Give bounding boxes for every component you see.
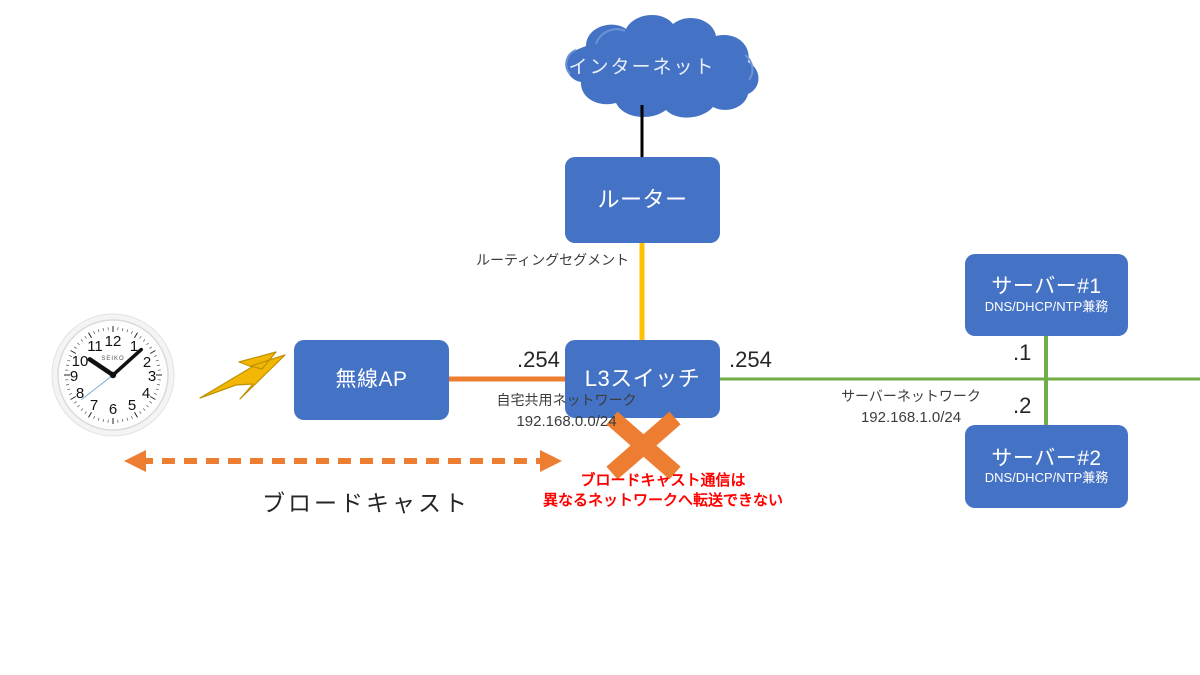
server1-address: .1 — [1013, 340, 1031, 366]
internet-cloud-label: インターネット — [562, 52, 722, 79]
l3-home-interface-address: .254 — [517, 347, 560, 373]
wireless-ap-node[interactable]: 無線AP — [294, 340, 449, 420]
router-node[interactable]: ルーター — [565, 157, 720, 243]
svg-text:11: 11 — [87, 338, 103, 355]
home-network-subnet: 192.168.0.0/24 — [459, 411, 674, 434]
svg-text:6: 6 — [109, 401, 117, 418]
router-label: ルーター — [597, 188, 687, 213]
server2-address: .2 — [1013, 393, 1031, 419]
svg-text:3: 3 — [148, 368, 156, 385]
server2-node[interactable]: サーバー#2 DNS/DHCP/NTP兼務 — [965, 425, 1128, 508]
server-network-subnet: 192.168.1.0/24 — [836, 407, 986, 430]
l3-switch-label: L3スイッチ — [585, 367, 700, 392]
server-network-label: サーバーネットワーク 192.168.1.0/24 — [836, 386, 986, 430]
svg-text:8: 8 — [76, 385, 84, 402]
warning-line-1: ブロードキャスト通信は — [518, 471, 808, 491]
l3-server-interface-address: .254 — [729, 347, 772, 373]
network-diagram-canvas: ルーター L3スイッチ 無線AP サーバー#1 DNS/DHCP/NTP兼務 サ… — [0, 0, 1200, 675]
svg-text:4: 4 — [142, 385, 150, 402]
warning-line-2: 異なるネットワークへ転送できない — [518, 491, 808, 511]
analog-wall-clock-icon: 12 1 2 3 4 5 6 7 8 9 10 11 SEIKO — [51, 313, 175, 437]
broadcast-block-warning: ブロードキャスト通信は 異なるネットワークへ転送できない — [518, 471, 808, 512]
server2-label: サーバー#2 — [991, 447, 1101, 471]
svg-text:5: 5 — [128, 397, 136, 414]
server1-label: サーバー#1 — [991, 275, 1101, 299]
svg-text:10: 10 — [72, 353, 89, 370]
broadcast-label: ブロードキャスト — [262, 484, 470, 518]
server2-role: DNS/DHCP/NTP兼務 — [985, 471, 1109, 486]
home-network-label: 自宅共用ネットワーク 192.168.0.0/24 — [459, 390, 674, 434]
svg-text:7: 7 — [90, 397, 98, 414]
routing-segment-label: ルーティングセグメント — [476, 250, 629, 270]
home-network-name: 自宅共用ネットワーク — [459, 390, 674, 411]
server1-node[interactable]: サーバー#1 DNS/DHCP/NTP兼務 — [965, 254, 1128, 336]
server1-role: DNS/DHCP/NTP兼務 — [985, 300, 1109, 315]
connector-layer — [0, 0, 1200, 675]
svg-text:9: 9 — [70, 368, 78, 385]
server-network-name: サーバーネットワーク — [836, 386, 986, 407]
wireless-ap-label: 無線AP — [335, 368, 407, 392]
clock-brand: SEIKO — [101, 356, 124, 362]
svg-text:12: 12 — [105, 333, 122, 350]
